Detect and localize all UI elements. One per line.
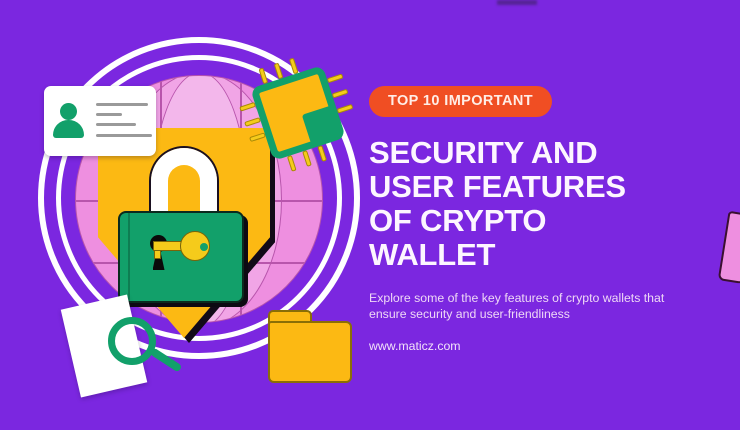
chip-pin	[327, 73, 344, 83]
chip-pin	[258, 68, 268, 85]
id-card-text-line	[96, 113, 122, 116]
padlock-icon	[118, 211, 244, 303]
magnifier-icon	[108, 317, 156, 365]
status-badge: TOP 10 IMPORTANT	[369, 86, 552, 117]
headline-line: SECURITY AND	[369, 136, 709, 170]
chip-pin	[274, 63, 284, 80]
id-card-text-line	[96, 103, 148, 106]
petal-shape	[718, 211, 740, 285]
chip-pin	[332, 89, 349, 99]
chip-pin	[244, 117, 261, 127]
avatar	[60, 103, 77, 120]
chip-pin	[289, 58, 299, 75]
avatar-body	[53, 120, 84, 138]
padlock-seam	[128, 213, 130, 301]
subtitle: Explore some of the key features of cryp…	[369, 291, 684, 322]
crypto-wallet-security-illustration	[10, 25, 370, 390]
chip-pin	[249, 132, 266, 142]
chip-core	[302, 105, 342, 145]
id-card-icon	[44, 86, 156, 156]
headline-line: WALLET	[369, 238, 709, 272]
banner-canvas: TOP 10 IMPORTANT SECURITY AND USER FEATU…	[0, 0, 740, 430]
headline-line: USER FEATURES	[369, 170, 709, 204]
folder-icon	[268, 321, 352, 383]
id-card-text-line	[96, 123, 136, 126]
key-icon	[180, 231, 210, 261]
website-url: www.maticz.com	[369, 339, 709, 353]
headline-line: OF CRYPTO	[369, 204, 709, 238]
page-title: SECURITY AND USER FEATURES OF CRYPTO WAL…	[369, 136, 709, 272]
id-card-text-line	[96, 134, 152, 137]
banner-text-block: TOP 10 IMPORTANT SECURITY AND USER FEATU…	[369, 86, 709, 353]
key-icon-tooth	[154, 251, 161, 259]
top-watermark-smudge	[497, 0, 537, 5]
chip-pin	[337, 104, 354, 114]
chip-pin	[239, 102, 256, 112]
